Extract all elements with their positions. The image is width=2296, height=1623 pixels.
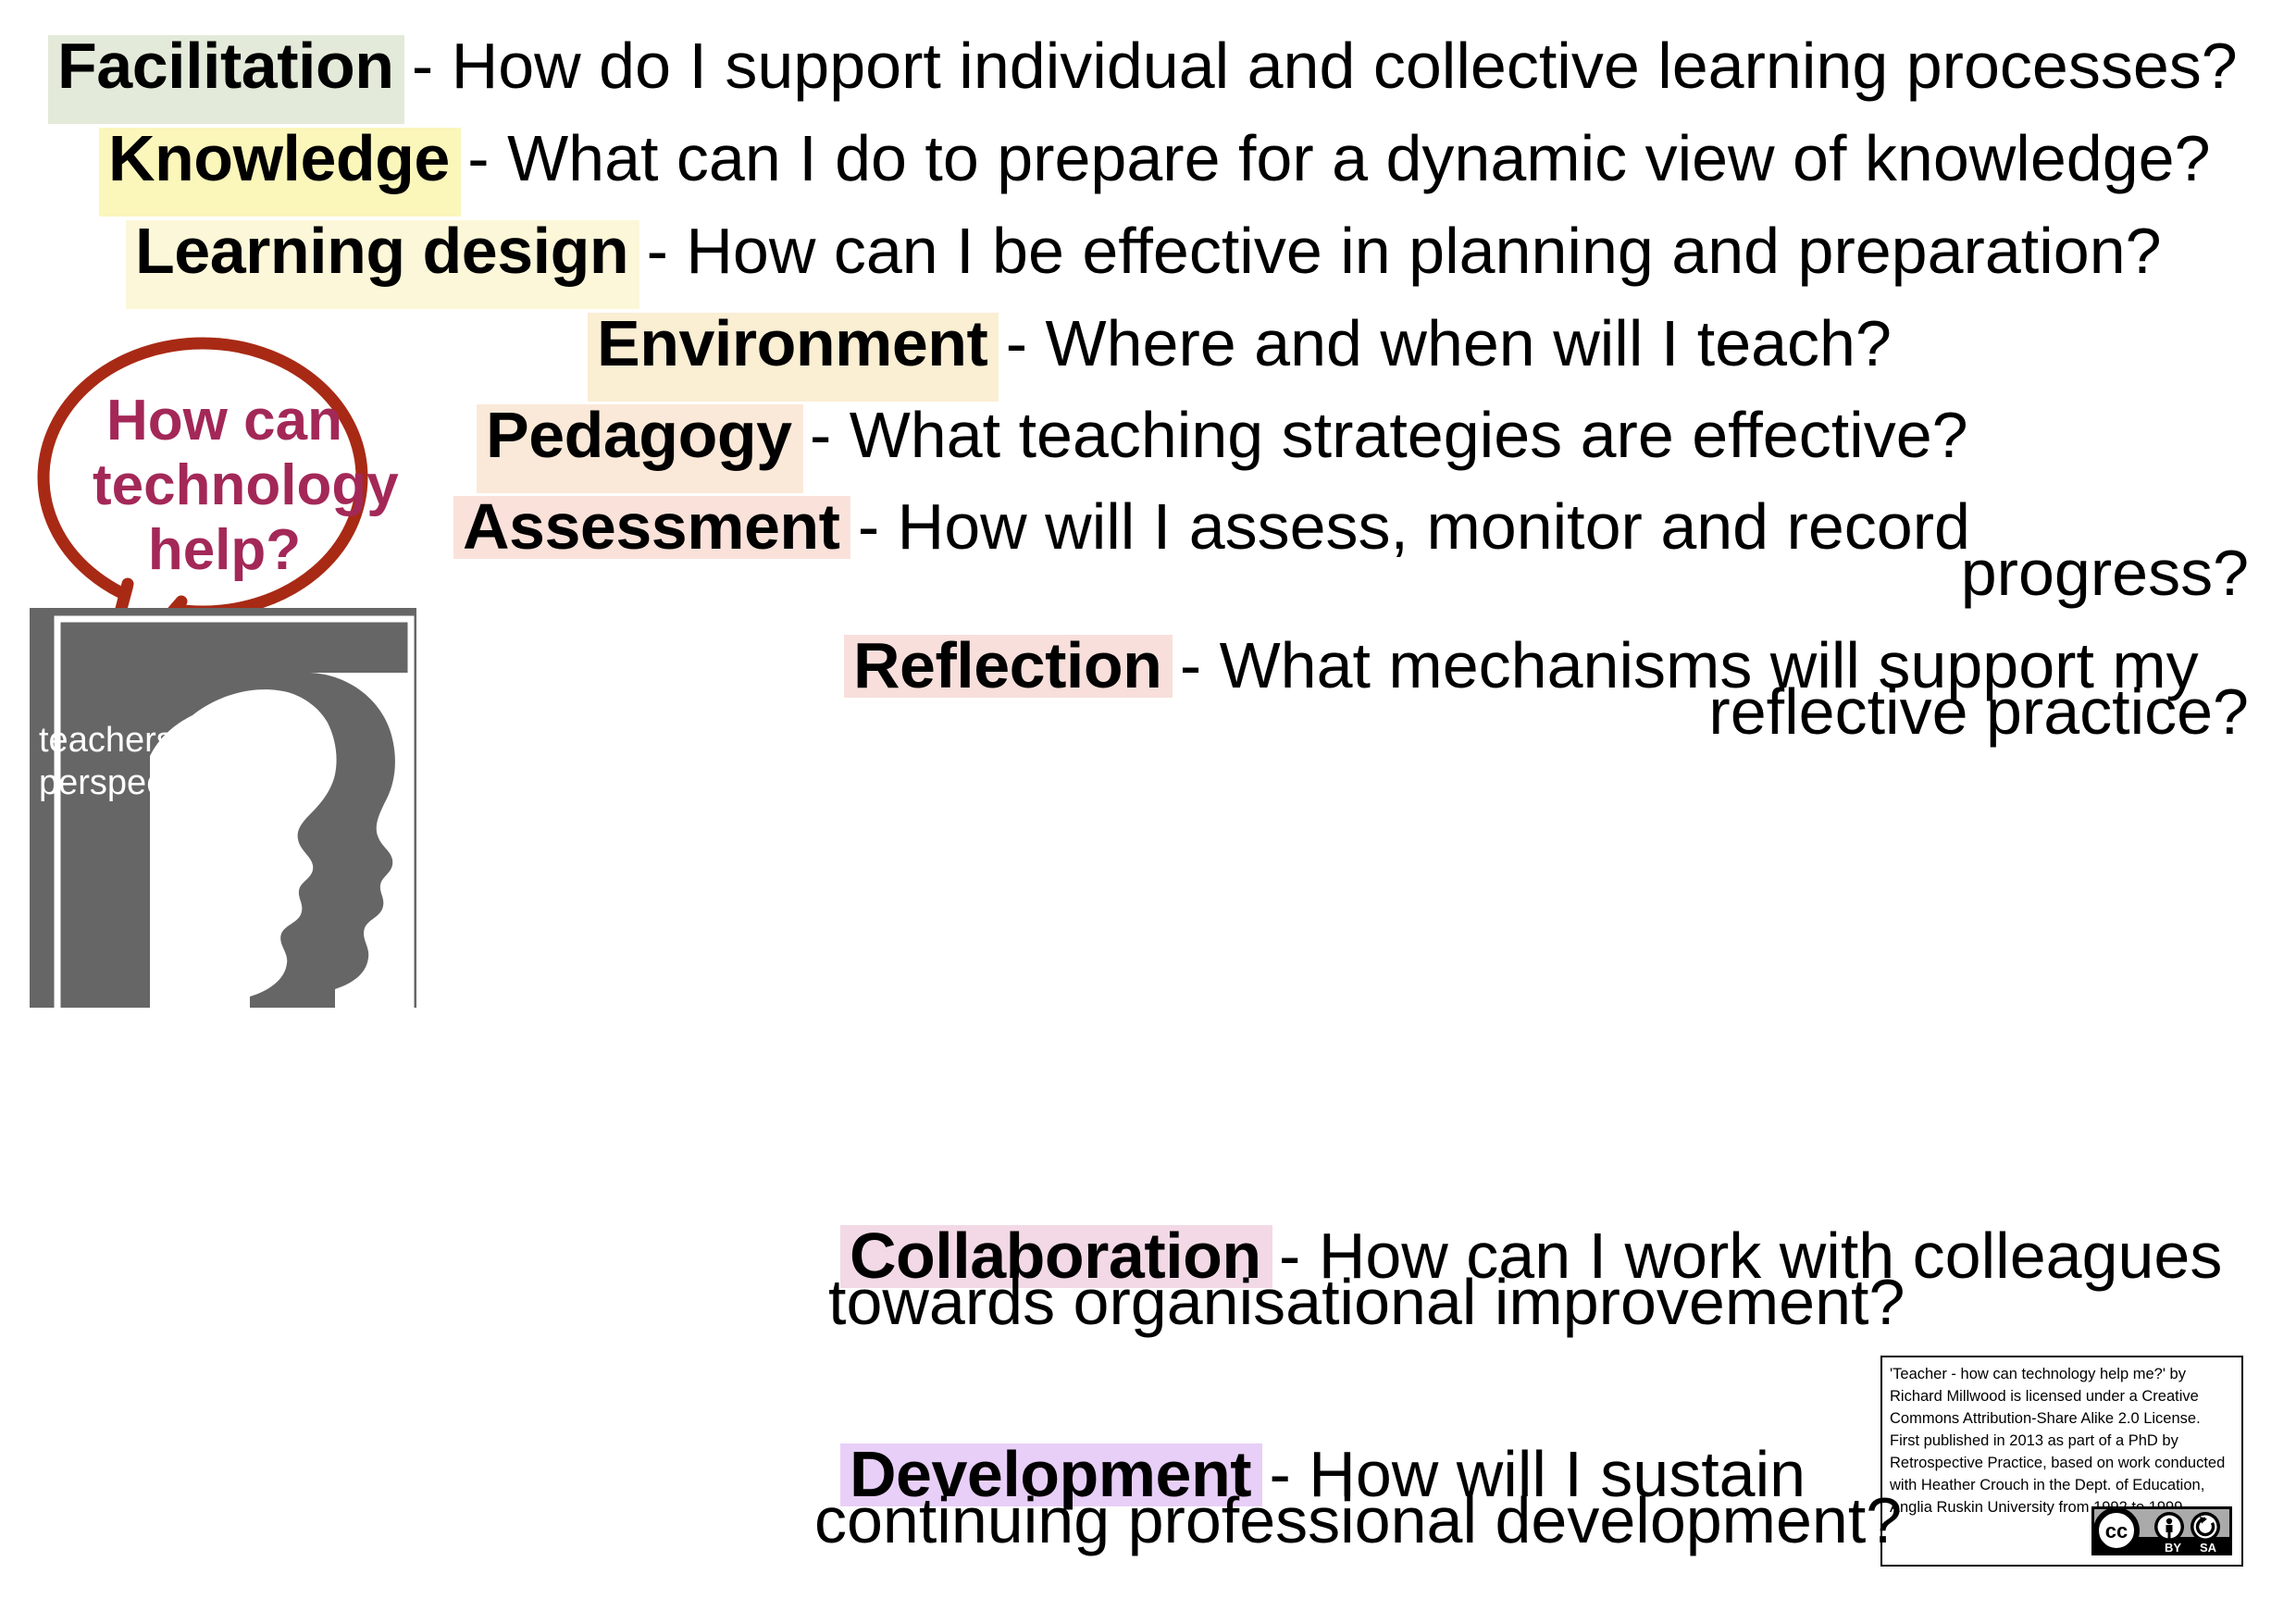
row-assessment: Assessment - How will I assess, monitor … [463,485,1970,568]
keyword-reflection: Reflection [853,629,1161,701]
row-facilitation: Facilitation - How do I support individu… [57,24,2238,107]
row-development-line2: continuing professional development? [814,1479,1902,1562]
teachers-perspective-image: teachers’ perspective [30,608,416,1008]
row-pedagogy: Pedagogy - What teaching strategies are … [486,393,1968,477]
question-learning-design: - How can I be effective in planning and… [628,215,2161,287]
license-box: 'Teacher - how can technology help me?' … [1880,1356,2243,1567]
question-assessment: - How will I assess, monitor and record [839,490,1970,563]
keyword-learning-design: Learning design [135,215,628,287]
question-reflection-line2: reflective practice? [1708,675,2249,748]
row-learning-design: Learning design - How can I be effective… [135,209,2162,292]
row-environment: Environment - Where and when will I teac… [597,302,1892,385]
keyword-pedagogy: Pedagogy [486,399,792,471]
tp-label-line-2: perspective [39,762,218,804]
license-text: 'Teacher - how can technology help me?' … [1890,1363,2234,1518]
question-knowledge: - What can I do to prepare for a dynamic… [450,122,2211,194]
keyword-knowledge: Knowledge [108,122,450,194]
svg-text:cc: cc [2105,1519,2128,1542]
badge-by-label: BY [2165,1541,2181,1555]
question-collaboration-line2: towards organisational improvement? [828,1266,1905,1338]
keyword-environment: Environment [597,307,987,379]
teachers-perspective-label: teachers’ perspective [39,719,218,804]
bubble-line-3: help? [93,518,356,583]
keyword-assessment: Assessment [463,490,839,563]
row-collaboration-line2: towards organisational improvement? [828,1260,1905,1344]
speech-bubble-text: How can technology help? [93,389,356,583]
row-knowledge: Knowledge - What can I do to prepare for… [108,117,2211,200]
bubble-line-2: technology [93,453,356,518]
creative-commons-badge-icon: cc BY SA [2091,1506,2232,1555]
keyword-facilitation: Facilitation [57,30,393,102]
head-silhouettes-icon [30,608,416,1008]
question-facilitation: - How do I support individual and collec… [393,30,2237,102]
question-pedagogy: - What teaching strategies are effective… [792,399,1968,471]
badge-sa-label: SA [2200,1541,2217,1555]
question-development-line2: continuing professional development? [814,1484,1902,1556]
bubble-line-1: How can [93,389,356,453]
tp-label-line-1: teachers’ [39,719,218,762]
question-assessment-line2: progress? [1961,537,2249,609]
question-environment: - Where and when will I teach? [987,307,1892,379]
